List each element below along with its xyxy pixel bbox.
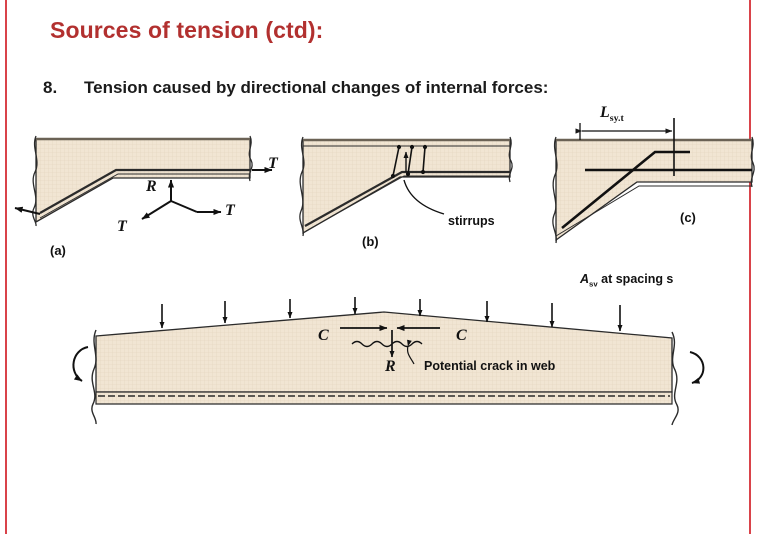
dimension-symbol: L (600, 104, 610, 121)
asv-subscript: sv (589, 280, 598, 289)
diagram-canvas (0, 0, 768, 534)
bottom-resultant-label: R (385, 358, 396, 376)
figure-a-resultant-label: R (146, 178, 157, 196)
potential-crack-note: Potential crack in web (424, 359, 555, 373)
figure-c-caption: (c) (680, 210, 696, 225)
figure-b-caption: (b) (362, 234, 379, 249)
dimension-subscript: sy.t (610, 113, 624, 124)
slide-page: Sources of tension (ctd): 8. Tension cau… (0, 0, 768, 534)
figure-a-force-right-label: T (268, 155, 278, 173)
stirrups-annotation: stirrups (448, 214, 495, 228)
bottom-compression-left-label: C (318, 327, 329, 345)
figure-c-dimension-label: Lsy.t (600, 104, 624, 124)
figure-c-beam (553, 137, 754, 243)
figure-a-axial-label: T (225, 202, 235, 220)
figure-a-diagonal-label: T (117, 218, 127, 236)
figure-a-caption: (a) (50, 243, 66, 258)
bottom-compression-right-label: C (456, 327, 467, 345)
asv-spacing-note: Asv at spacing s (580, 272, 673, 289)
asv-note-text: at spacing s (601, 272, 673, 286)
asv-symbol: A (580, 272, 589, 286)
